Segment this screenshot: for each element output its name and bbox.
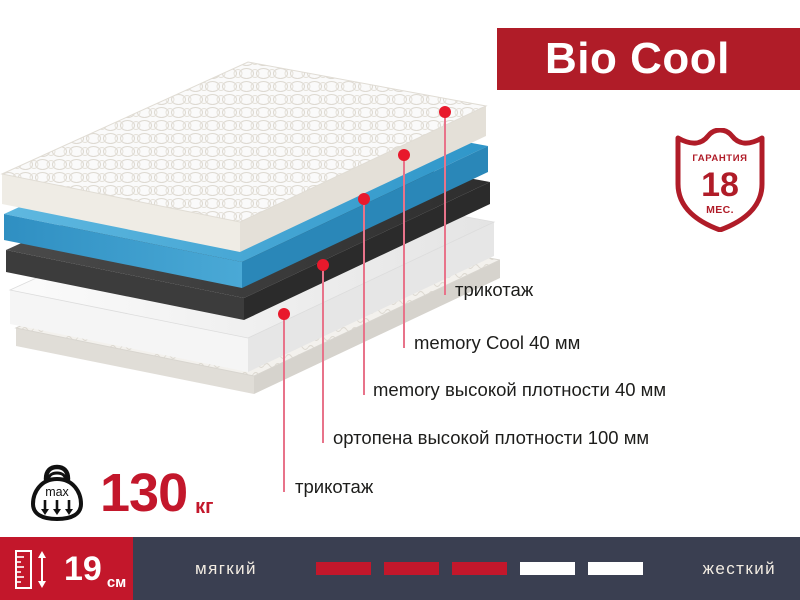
firmness-hard-label: жесткий bbox=[703, 559, 776, 579]
warranty-top-text: ГАРАНТИЯ bbox=[692, 153, 747, 164]
firmness-segment-5 bbox=[588, 562, 643, 575]
firmness-segment-3 bbox=[452, 562, 507, 575]
brand-title: Bio Cool bbox=[545, 37, 730, 81]
max-weight-unit: кг bbox=[195, 496, 213, 519]
kettlebell-icon: max bbox=[28, 462, 86, 524]
layer-label-knit-top: трикотаж bbox=[455, 279, 533, 301]
infographic-canvas: Bio Cool ГАРАНТИЯ 18 МЕС. bbox=[0, 0, 800, 600]
warranty-bottom-text: МЕС. bbox=[706, 204, 734, 216]
firmness-segment-1 bbox=[316, 562, 371, 575]
firmness-soft-label: мягкий bbox=[195, 559, 257, 579]
firmness-block: мягкий жесткий bbox=[133, 537, 800, 600]
bottom-bar: 19 см мягкий жесткий bbox=[0, 537, 800, 600]
brand-bar: Bio Cool bbox=[497, 28, 800, 90]
ruler-icon bbox=[12, 546, 54, 592]
firmness-segment-2 bbox=[384, 562, 439, 575]
warranty-number: 18 bbox=[701, 166, 739, 204]
max-weight-value: 130 bbox=[100, 466, 187, 520]
firmness-segment-4 bbox=[520, 562, 575, 575]
height-block: 19 см bbox=[0, 537, 133, 600]
height-unit: см bbox=[107, 574, 126, 591]
layer-label-knit-bottom: трикотаж bbox=[295, 476, 373, 498]
height-value: 19 bbox=[64, 552, 102, 586]
layer-label-ortopena: ортопена высокой плотности 100 мм bbox=[333, 427, 649, 449]
layer-label-memory-hd: memory высокой плотности 40 мм bbox=[373, 379, 666, 401]
kettlebell-max-text: max bbox=[45, 485, 69, 499]
firmness-scale bbox=[316, 562, 643, 575]
warranty-badge: ГАРАНТИЯ 18 МЕС. bbox=[672, 128, 768, 232]
max-weight-block: max 130 кг bbox=[28, 462, 213, 524]
layer-label-memory-cool: memory Cool 40 мм bbox=[414, 332, 580, 354]
